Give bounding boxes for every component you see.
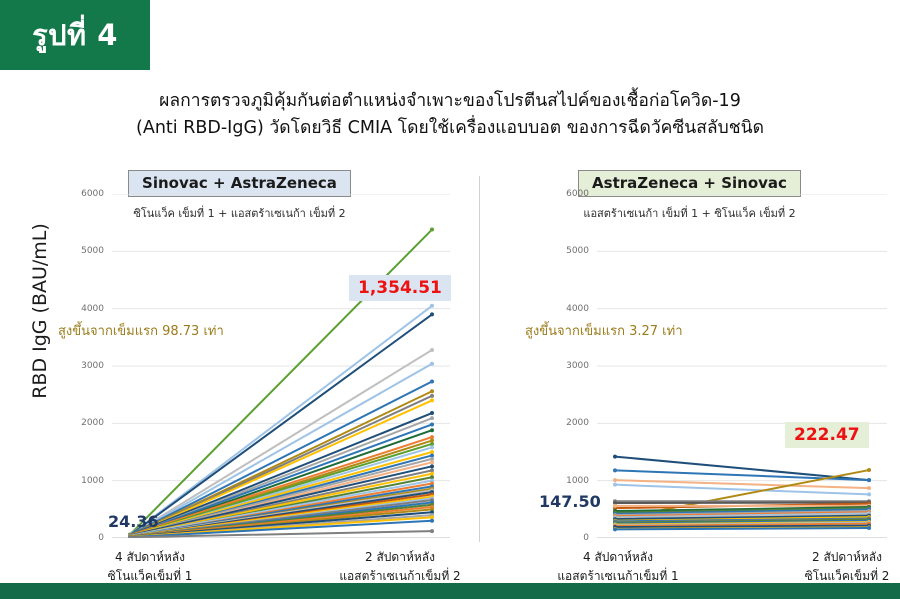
right-x-tick-1-line1: 4 สัปดาห์หลัง xyxy=(528,548,708,567)
y-tick-0: 0 xyxy=(98,533,104,543)
left-final-value-callout: 1,354.51 xyxy=(349,275,451,301)
y-tick-0: 0 xyxy=(583,533,589,543)
y-tick-1000: 1000 xyxy=(566,476,589,486)
right-x-tick-2: 2 สัปดาห์หลัง ซิโนแว็คเข็มที่ 2 xyxy=(757,548,900,586)
y-tick-2000: 2000 xyxy=(81,418,104,428)
left-chart-plot xyxy=(112,194,450,538)
bottom-green-bar xyxy=(0,583,900,599)
y-tick-5000: 5000 xyxy=(81,246,104,256)
plot-left-svg xyxy=(112,194,450,538)
title-line-1: ผลการตรวจภูมิคุ้มกันต่อตำแหน่งจำเพาะของโ… xyxy=(0,88,900,115)
left-x-tick-1-line1: 4 สัปดาห์หลัง xyxy=(60,548,240,567)
y-tick-2000: 2000 xyxy=(566,418,589,428)
y-tick-3000: 3000 xyxy=(566,361,589,371)
left-x-tick-2: 2 สัปดาห์หลัง แอสตร้าเซเนก้าเข็มที่ 2 xyxy=(310,548,490,586)
right-baseline-value: 147.50 xyxy=(539,492,601,511)
right-panel-legend: AstraZeneca + Sinovac xyxy=(578,170,801,197)
title-line-2: (Anti RBD-IgG) วัดโดยวิธี CMIA โดยใช้เคร… xyxy=(0,115,900,142)
right-x-tick-1: 4 สัปดาห์หลัง แอสตร้าเซเนก้าเข็มที่ 1 xyxy=(528,548,708,586)
y-tick-5000: 5000 xyxy=(566,246,589,256)
figure-tag: รูปที่ 4 xyxy=(0,0,150,70)
y-tick-3000: 3000 xyxy=(81,361,104,371)
left-panel-legend: Sinovac + AstraZeneca xyxy=(128,170,351,197)
left-x-tick-1: 4 สัปดาห์หลัง ซิโนแว็คเข็มที่ 1 xyxy=(60,548,240,586)
series-r3 xyxy=(613,478,871,490)
right-fold-increase-note: สูงขึ้นจากเข็มแรก 3.27 เท่า xyxy=(525,320,683,341)
y-tick-4000: 4000 xyxy=(81,304,104,314)
y-tick-4000: 4000 xyxy=(566,304,589,314)
right-final-value-callout: 222.47 xyxy=(785,422,869,448)
left-baseline-value: 24.36 xyxy=(108,512,159,531)
y-tick-1000: 1000 xyxy=(81,476,104,486)
figure-tag-label: รูปที่ 4 xyxy=(32,12,118,58)
right-chart-plot xyxy=(597,194,887,538)
right-x-tick-2-line1: 2 สัปดาห์หลัง xyxy=(757,548,900,567)
y-tick-6000: 6000 xyxy=(81,189,104,199)
left-y-axis: 0100020003000400050006000 xyxy=(64,194,104,538)
plot-right-svg xyxy=(597,194,887,538)
series-r2 xyxy=(613,468,871,482)
left-fold-increase-note: สูงขึ้นจากเข็มแรก 98.73 เท่า xyxy=(58,320,224,341)
y-tick-6000: 6000 xyxy=(566,189,589,199)
right-y-axis: 0100020003000400050006000 xyxy=(549,194,589,538)
page-title: ผลการตรวจภูมิคุ้มกันต่อตำแหน่งจำเพาะของโ… xyxy=(0,88,900,142)
left-x-tick-2-line1: 2 สัปดาห์หลัง xyxy=(310,548,490,567)
